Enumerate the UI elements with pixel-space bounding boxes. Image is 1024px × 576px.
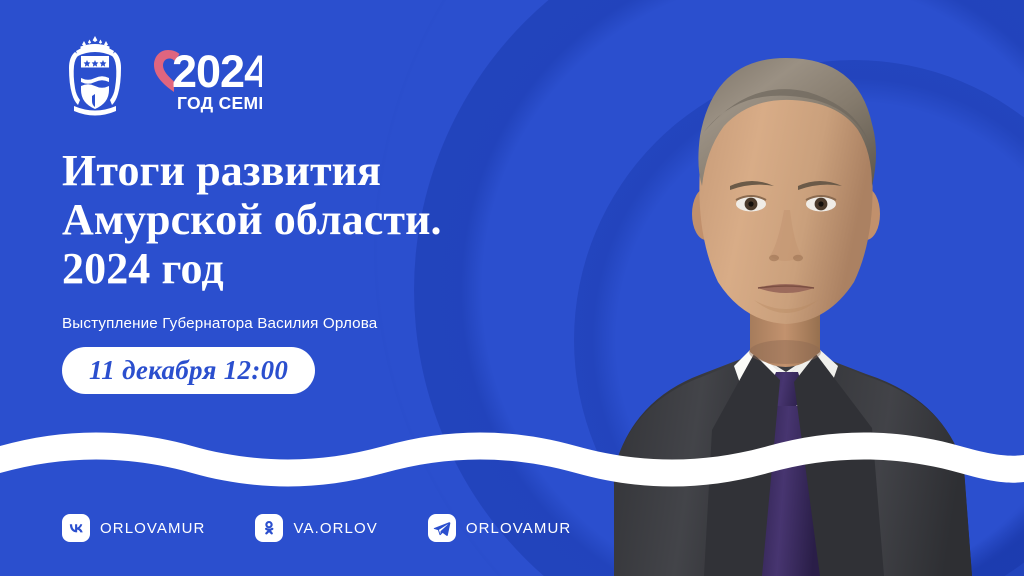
date-badge: 11 декабря 12:00 [62,347,315,394]
poster-canvas: 2024 ГОД СЕМЬИ Итоги развития Амурской о… [0,0,1024,576]
page-title: Итоги развития Амурской области. 2024 го… [62,146,582,293]
telegram-icon [428,514,456,542]
social-links-row: ORLOVAMUR VA.ORLOV ORLOVAMUR [62,514,571,542]
title-block: Итоги развития Амурской области. 2024 го… [62,146,582,332]
family-year-2024-logo: 2024 ГОД СЕМЬИ [150,40,262,114]
amur-oblast-coat-of-arms-icon [62,34,128,120]
social-link-vk[interactable]: ORLOVAMUR [62,514,205,542]
social-label-odnoklassniki: VA.ORLOV [293,520,377,537]
odnoklassniki-icon [255,514,283,542]
page-title-line-2: Амурской области. [62,195,582,244]
page-title-line-1: Итоги развития [62,146,582,195]
page-subtitle: Выступление Губернатора Василия Орлова [62,315,582,332]
header-logos: 2024 ГОД СЕМЬИ [62,34,262,120]
social-label-vk: ORLOVAMUR [100,520,205,537]
wave-divider [0,424,1024,496]
vk-icon [62,514,90,542]
social-link-odnoklassniki[interactable]: VA.ORLOV [255,514,377,542]
social-label-telegram: ORLOVAMUR [466,520,571,537]
date-badge-label: 11 декабря 12:00 [89,355,288,386]
family-year-caption: ГОД СЕМЬИ [177,93,262,113]
social-link-telegram[interactable]: ORLOVAMUR [428,514,571,542]
svg-text:2024: 2024 [172,46,262,97]
page-title-line-3: 2024 год [62,244,582,293]
